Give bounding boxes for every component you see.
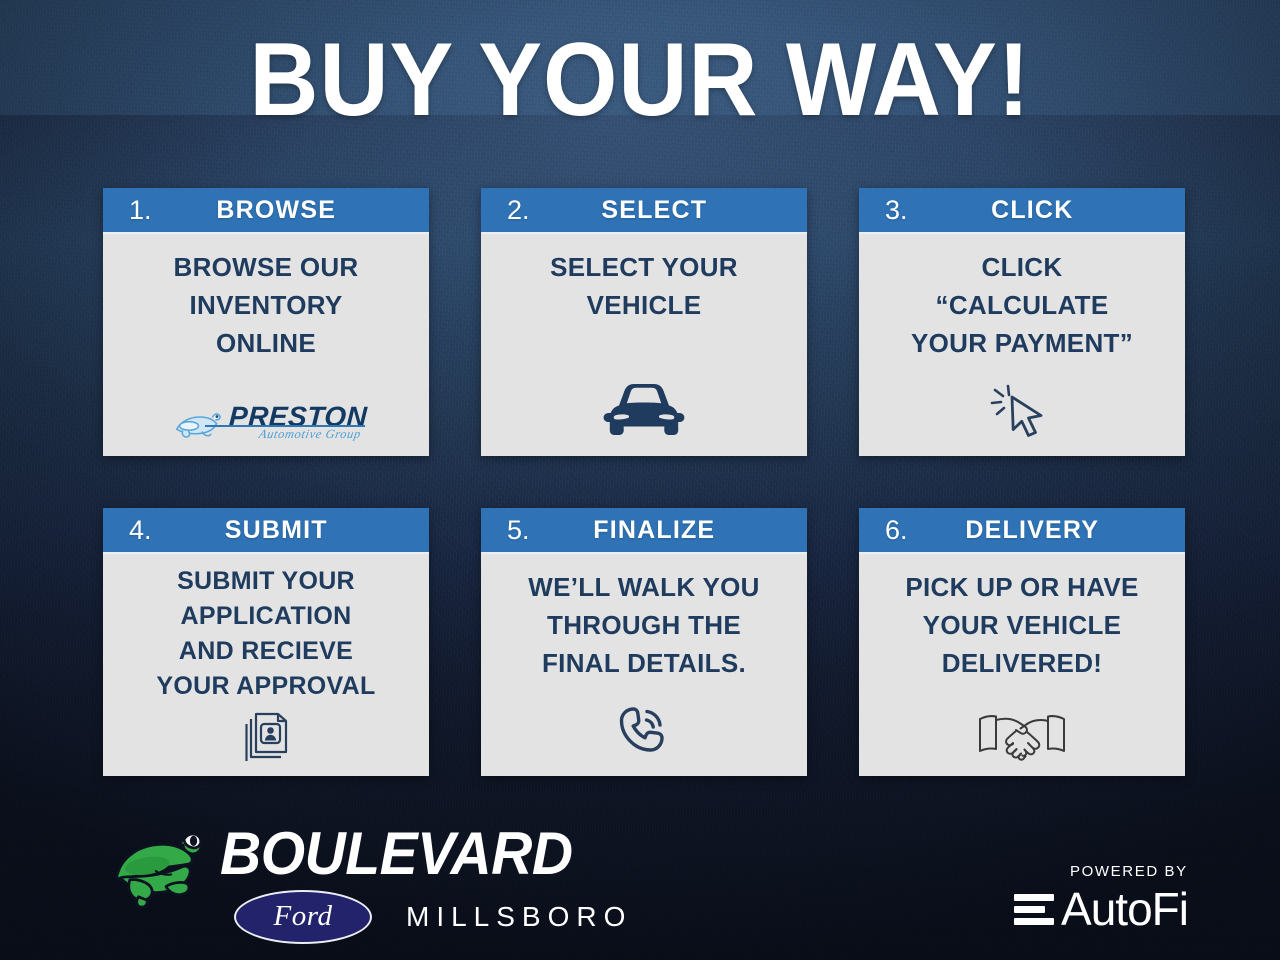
card-body: SELECT YOUR VEHICLE (481, 234, 807, 456)
card-text-line: DELIVERED! (905, 644, 1138, 682)
card-text-line: YOUR APPROVAL (156, 669, 375, 704)
ford-wordmark: Ford (274, 902, 333, 931)
step-card-finalize[interactable]: 5. FINALIZE WE’LL WALK YOU THROUGH THE F… (481, 508, 807, 776)
card-text-line: “CALCULATE (911, 286, 1133, 324)
card-body: PICK UP OR HAVE YOUR VEHICLE DELIVERED! (859, 554, 1185, 776)
card-text-line: YOUR VEHICLE (905, 606, 1138, 644)
step-title: SUBMIT (158, 518, 429, 543)
card-icon (613, 700, 675, 762)
card-body: CLICK “CALCULATE YOUR PAYMENT” (859, 234, 1185, 456)
phone-ringing-icon (613, 702, 675, 760)
brand-text-column: BOULEVARD Ford MILLSBORO (220, 824, 632, 944)
card-icon (975, 710, 1069, 762)
preston-wordmark: PRESTON Automotive Group (229, 403, 367, 441)
step-number: 5. (507, 517, 530, 544)
ford-oval-logo: Ford (234, 890, 372, 944)
card-text-line: PICK UP OR HAVE (905, 568, 1138, 606)
card-text-line: WE’LL WALK YOU (528, 568, 759, 606)
preston-tagline: Automotive Group (258, 428, 369, 441)
step-number: 2. (507, 197, 530, 224)
card-icon (601, 380, 687, 442)
documents-person-icon (238, 708, 294, 762)
brand-secondary-row: Ford MILLSBORO (220, 890, 632, 944)
card-header: 1. BROWSE (103, 188, 429, 234)
step-title: BROWSE (158, 198, 429, 223)
card-header: 2. SELECT (481, 188, 807, 234)
powered-by-label: POWERED BY (1014, 864, 1188, 879)
powered-by-autofi[interactable]: POWERED BY AutoFi (1014, 864, 1188, 932)
card-icon (989, 380, 1055, 442)
boulevard-frog-icon (112, 828, 208, 914)
card-text: CLICK “CALCULATE YOUR PAYMENT” (911, 248, 1133, 363)
car-icon (601, 380, 687, 442)
step-number: 3. (885, 197, 908, 224)
step-title: SELECT (536, 198, 807, 223)
page-title: BUY YOUR WAY! (51, 28, 1229, 132)
card-text-line: AND RECIEVE (156, 634, 375, 669)
handshake-icon (975, 711, 1069, 761)
step-number: 4. (129, 517, 152, 544)
step-number: 6. (885, 517, 908, 544)
card-text-line: VEHICLE (550, 286, 738, 324)
step-card-browse[interactable]: 1. BROWSE BROWSE OUR INVENTORY ONLINE (103, 188, 429, 456)
step-title: FINALIZE (536, 518, 807, 543)
card-text-line: SELECT YOUR (550, 248, 738, 286)
card-header: 3. CLICK (859, 188, 1185, 234)
card-header: 6. DELIVERY (859, 508, 1185, 554)
boulevard-ford-millsboro-logo[interactable]: BOULEVARD Ford MILLSBORO (112, 824, 632, 944)
card-text: SELECT YOUR VEHICLE (550, 248, 738, 324)
autofi-bars-icon (1014, 894, 1054, 925)
card-text-line: THROUGH THE (528, 606, 759, 644)
preston-automotive-group-logo: PRESTON Automotive Group (173, 403, 367, 441)
brand-city: MILLSBORO (406, 903, 632, 931)
autofi-lockup: AutoFi (1014, 886, 1188, 932)
step-card-select[interactable]: 2. SELECT SELECT YOUR VEHICLE (481, 188, 807, 456)
card-text: WE’LL WALK YOU THROUGH THE FINAL DETAILS… (528, 568, 759, 683)
card-text-line: APPLICATION (156, 599, 375, 634)
card-icon (238, 708, 294, 762)
card-text-line: CLICK (911, 248, 1133, 286)
step-card-delivery[interactable]: 6. DELIVERY PICK UP OR HAVE YOUR VEHICLE… (859, 508, 1185, 776)
card-body: WE’LL WALK YOU THROUGH THE FINAL DETAILS… (481, 554, 807, 776)
card-text-line: BROWSE OUR (174, 248, 359, 286)
card-text-line: YOUR PAYMENT” (911, 324, 1133, 362)
cursor-click-icon (989, 382, 1055, 440)
brand-name: BOULEVARD (220, 824, 612, 884)
step-title: CLICK (914, 198, 1185, 223)
card-text-line: SUBMIT YOUR (156, 564, 375, 599)
autofi-wordmark: AutoFi (1061, 886, 1188, 932)
footer: BOULEVARD Ford MILLSBORO POWERED BY Auto… (0, 820, 1280, 960)
step-card-click[interactable]: 3. CLICK CLICK “CALCULATE YOUR PAYMENT” (859, 188, 1185, 456)
card-header: 5. FINALIZE (481, 508, 807, 554)
step-number: 1. (129, 197, 152, 224)
step-title: DELIVERY (914, 518, 1185, 543)
card-text-line: INVENTORY (174, 286, 359, 324)
card-text-line: ONLINE (174, 324, 359, 362)
steps-grid: 1. BROWSE BROWSE OUR INVENTORY ONLINE (103, 188, 1185, 776)
card-text: BROWSE OUR INVENTORY ONLINE (174, 248, 359, 363)
card-text: SUBMIT YOUR APPLICATION AND RECIEVE YOUR… (156, 564, 375, 704)
card-text-line: FINAL DETAILS. (528, 644, 759, 682)
card-body: SUBMIT YOUR APPLICATION AND RECIEVE YOUR… (103, 554, 429, 776)
card-header: 4. SUBMIT (103, 508, 429, 554)
card-text: PICK UP OR HAVE YOUR VEHICLE DELIVERED! (905, 568, 1138, 683)
card-body: BROWSE OUR INVENTORY ONLINE (103, 234, 429, 456)
step-card-submit[interactable]: 4. SUBMIT SUBMIT YOUR APPLICATION AND RE… (103, 508, 429, 776)
